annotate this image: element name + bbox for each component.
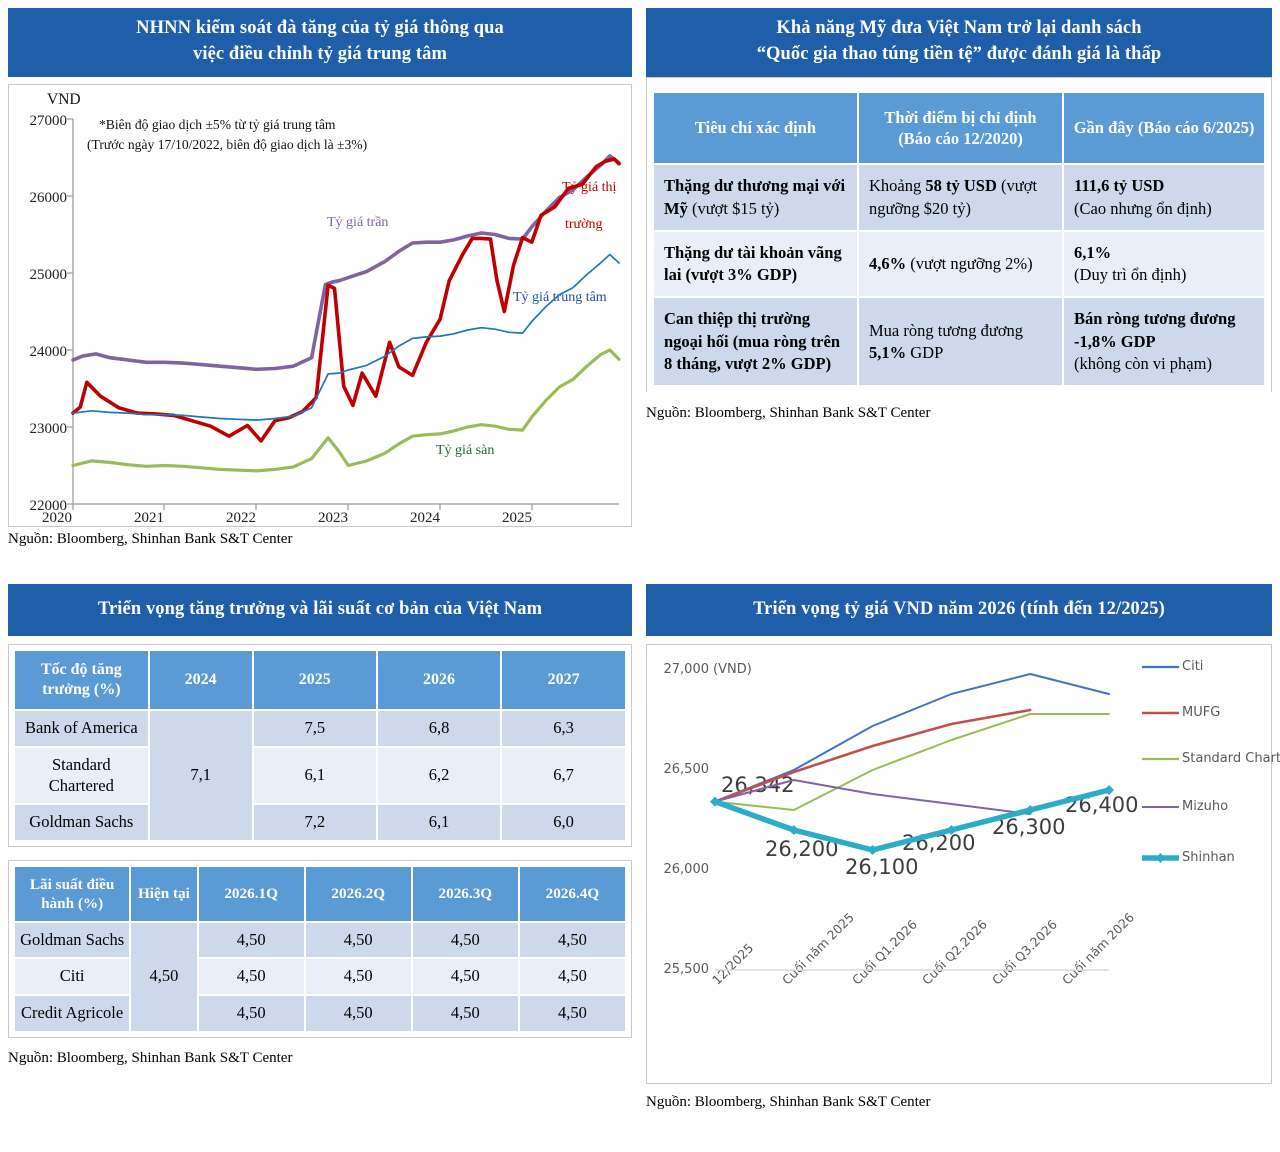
chart1-plot-area — [9, 85, 647, 526]
panel3-title-line1: Triển vọng tăng trưởng và lãi suất cơ bả… — [12, 596, 628, 622]
chart4-line-citi — [715, 674, 1109, 802]
table-row: Can thiệp thị trường ngoại hối (mua ròng… — [653, 297, 1265, 386]
policy-q2-value: 4,50 — [305, 958, 412, 995]
policy-row-name: Credit Agricole — [14, 995, 130, 1032]
panel-exchange-rate-chart: NHNN kiểm soát đà tăng của tỷ giá thông … — [0, 0, 640, 576]
policy-header-4: 2026.3Q — [412, 866, 519, 922]
criteria-cell-2025: 6,1% (Duy trì ổn định) — [1063, 231, 1265, 298]
chart4-plot-area — [647, 645, 1280, 1083]
panel3-growth-frame: Tốc độ tăng trưởng (%) 2024 2025 2026 20… — [8, 644, 632, 847]
growth-2027-value: 6,3 — [501, 710, 626, 747]
criteria-cell-2025: 111,6 tỷ USD (Cao nhưng ổn định) — [1063, 164, 1265, 231]
table-row: Credit Agricole 4,50 4,50 4,50 4,50 — [14, 995, 626, 1032]
chart4-legend-marker-shinhan — [1156, 853, 1165, 863]
criteria-cell-2020: Mua ròng tương đương 5,1% GDP — [858, 297, 1063, 386]
panel1-title-line2: việc điều chỉnh tỷ giá trung tâm — [12, 41, 628, 67]
panel-vnd-forecast-chart: Triển vọng tỷ giá VND năm 2026 (tính đến… — [640, 576, 1280, 1152]
criteria-name-bold: Thặng dư tài khoản vãng lai (vượt 3% GDP… — [664, 243, 842, 284]
panel1-title: NHNN kiểm soát đà tăng của tỷ giá thông … — [8, 8, 632, 77]
policy-q3-value: 4,50 — [412, 922, 519, 959]
policy-q1-value: 4,50 — [198, 958, 305, 995]
panel1-title-line1: NHNN kiểm soát đà tăng của tỷ giá thông … — [12, 15, 628, 41]
growth-table: Tốc độ tăng trưởng (%) 2024 2025 2026 20… — [13, 649, 627, 842]
table-row: Goldman Sachs 7,2 6,1 6,0 — [14, 804, 626, 841]
criteria-2020-post: (vượt ngưỡng 2%) — [906, 254, 1033, 273]
table-row: Citi 4,50 4,50 4,50 4,50 — [14, 958, 626, 995]
table-row: Thặng dư tài khoản vãng lai (vượt 3% GDP… — [653, 231, 1265, 298]
table-row: Bank of America 7,1 7,5 6,8 6,3 — [14, 710, 626, 747]
criteria-cell-name: Can thiệp thị trường ngoại hối (mua ròng… — [653, 297, 858, 386]
panel2-title-line2: “Quốc gia thao túng tiền tệ” được đánh g… — [650, 41, 1268, 67]
policy-header-5: 2026.4Q — [519, 866, 626, 922]
criteria-2025-rest: (Duy trì ổn định) — [1074, 265, 1186, 284]
panel2-title-line1: Khả năng Mỹ đưa Việt Nam trở lại danh sá… — [650, 15, 1268, 41]
criteria-2025-bold: 6,1% — [1074, 243, 1111, 262]
growth-row-name: Bank of America — [14, 710, 149, 747]
growth-row-name: Standard Chartered — [14, 747, 149, 804]
policy-q4-value: 4,50 — [519, 995, 626, 1032]
panel3-policy-frame: Lãi suất điều hành (%) Hiện tại 2026.1Q … — [8, 860, 632, 1038]
criteria-table-header-row: Tiêu chí xác định Thời điểm bị chỉ định … — [653, 92, 1265, 165]
policy-header-0: Lãi suất điều hành (%) — [14, 866, 130, 922]
criteria-2020-pre: Mua ròng tương đương — [869, 321, 1023, 340]
growth-header-3: 2026 — [377, 650, 501, 710]
policy-q4-value: 4,50 — [519, 922, 626, 959]
table-row: Thặng dư thương mại với Mỹ (vượt $15 tỷ)… — [653, 164, 1265, 231]
growth-2027-value: 6,0 — [501, 804, 626, 841]
growth-2026-value: 6,8 — [377, 710, 501, 747]
criteria-table: Tiêu chí xác định Thời điểm bị chỉ định … — [652, 91, 1266, 388]
policy-row-name: Goldman Sachs — [14, 922, 130, 959]
policy-row-name: Citi — [14, 958, 130, 995]
panel2-title: Khả năng Mỹ đưa Việt Nam trở lại danh sá… — [646, 8, 1272, 77]
growth-2025-value: 7,5 — [253, 710, 377, 747]
growth-2026-value: 6,2 — [377, 747, 501, 804]
growth-2024-merged: 7,1 — [149, 710, 253, 841]
growth-2025-value: 6,1 — [253, 747, 377, 804]
criteria-2020-bold: 4,6% — [869, 254, 906, 273]
table-row: Standard Chartered 6,1 6,2 6,7 — [14, 747, 626, 804]
table-row: Goldman Sachs 4,50 4,50 4,50 4,50 4,50 — [14, 922, 626, 959]
criteria-header-1: Thời điểm bị chỉ định (Báo cáo 12/2020) — [858, 92, 1063, 165]
policy-rate-table: Lãi suất điều hành (%) Hiện tại 2026.1Q … — [13, 865, 627, 1033]
policy-current-merged: 4,50 — [130, 922, 197, 1032]
panel2-table-frame: Tiêu chí xác định Thời điểm bị chỉ định … — [646, 77, 1272, 393]
policy-q1-value: 4,50 — [198, 995, 305, 1032]
criteria-name-bold: Can thiệp thị trường ngoại hối (mua ròng… — [664, 309, 840, 373]
policy-q4-value: 4,50 — [519, 958, 626, 995]
criteria-2020-bold: 58 tỷ USD — [925, 176, 997, 195]
criteria-cell-name: Thặng dư tài khoản vãng lai (vượt 3% GDP… — [653, 231, 858, 298]
policy-q2-value: 4,50 — [305, 922, 412, 959]
panel2-source: Nguồn: Bloomberg, Shinhan Bank S&T Cente… — [646, 401, 1272, 422]
policy-header-3: 2026.2Q — [305, 866, 412, 922]
dashboard-grid: NHNN kiểm soát đà tăng của tỷ giá thông … — [0, 0, 1280, 1152]
chart1-line-tỷ-giá-sàn — [73, 350, 619, 471]
criteria-cell-2025: Bán ròng tương đương -1,8% GDP (không cò… — [1063, 297, 1265, 386]
policy-header-row: Lãi suất điều hành (%) Hiện tại 2026.1Q … — [14, 866, 626, 922]
growth-2026-value: 6,1 — [377, 804, 501, 841]
chart-vnd-forecast: (VND) 27,000 26,500 26,000 25,500 12/202… — [646, 644, 1272, 1084]
policy-q3-value: 4,50 — [412, 995, 519, 1032]
policy-header-1: Hiện tại — [130, 866, 197, 922]
criteria-2020-post: GDP — [906, 343, 943, 362]
criteria-cell-name: Thặng dư thương mại với Mỹ (vượt $15 tỷ) — [653, 164, 858, 231]
growth-2025-value: 7,2 — [253, 804, 377, 841]
chart4-line-standard-chartered — [715, 714, 1109, 810]
growth-2027-value: 6,7 — [501, 747, 626, 804]
policy-q3-value: 4,50 — [412, 958, 519, 995]
chart-exchange-rate: VND *Biên độ giao dịch ±5% từ tỷ giá tru… — [8, 84, 632, 527]
criteria-2020-bold: 5,1% — [869, 343, 906, 362]
panel1-source: Nguồn: Bloomberg, Shinhan Bank S&T Cente… — [8, 527, 632, 548]
panel3-source: Nguồn: Bloomberg, Shinhan Bank S&T Cente… — [8, 1046, 632, 1067]
policy-q2-value: 4,50 — [305, 995, 412, 1032]
panel4-title-line1: Triển vọng tỷ giá VND năm 2026 (tính đến… — [650, 596, 1268, 622]
criteria-cell-2020: Khoảng 58 tỷ USD (vượt ngưỡng $20 tỷ) — [858, 164, 1063, 231]
policy-header-2: 2026.1Q — [198, 866, 305, 922]
criteria-header-2: Gần đây (Báo cáo 6/2025) — [1063, 92, 1265, 165]
criteria-cell-2020: 4,6% (vượt ngưỡng 2%) — [858, 231, 1063, 298]
criteria-2025-bold: 111,6 tỷ USD — [1074, 176, 1164, 195]
criteria-2025-rest: (không còn vi phạm) — [1074, 354, 1212, 373]
chart1-line-tỷ-giá-trần — [73, 156, 619, 369]
criteria-name-rest: (vượt $15 tỷ) — [692, 199, 779, 218]
panel4-title: Triển vọng tỷ giá VND năm 2026 (tính đến… — [646, 584, 1272, 636]
criteria-2020-pre: Khoảng — [869, 176, 925, 195]
chart1-line-tỷ-giá-thị-trường — [73, 159, 619, 441]
policy-q1-value: 4,50 — [198, 922, 305, 959]
panel4-source: Nguồn: Bloomberg, Shinhan Bank S&T Cente… — [646, 1090, 1272, 1111]
growth-header-row: Tốc độ tăng trưởng (%) 2024 2025 2026 20… — [14, 650, 626, 710]
criteria-2025-bold: Bán ròng tương đương -1,8% GDP — [1074, 309, 1235, 350]
growth-header-2: 2025 — [253, 650, 377, 710]
growth-header-4: 2027 — [501, 650, 626, 710]
panel-growth-and-policy-rate: Triển vọng tăng trưởng và lãi suất cơ bả… — [0, 576, 640, 1152]
criteria-header-0: Tiêu chí xác định — [653, 92, 858, 165]
growth-header-0: Tốc độ tăng trưởng (%) — [14, 650, 149, 710]
criteria-2025-rest: (Cao nhưng ổn định) — [1074, 199, 1212, 218]
growth-row-name: Goldman Sachs — [14, 804, 149, 841]
panel-manipulator-criteria: Khả năng Mỹ đưa Việt Nam trở lại danh sá… — [640, 0, 1280, 576]
panel3-title: Triển vọng tăng trưởng và lãi suất cơ bả… — [8, 584, 632, 636]
growth-header-1: 2024 — [149, 650, 253, 710]
